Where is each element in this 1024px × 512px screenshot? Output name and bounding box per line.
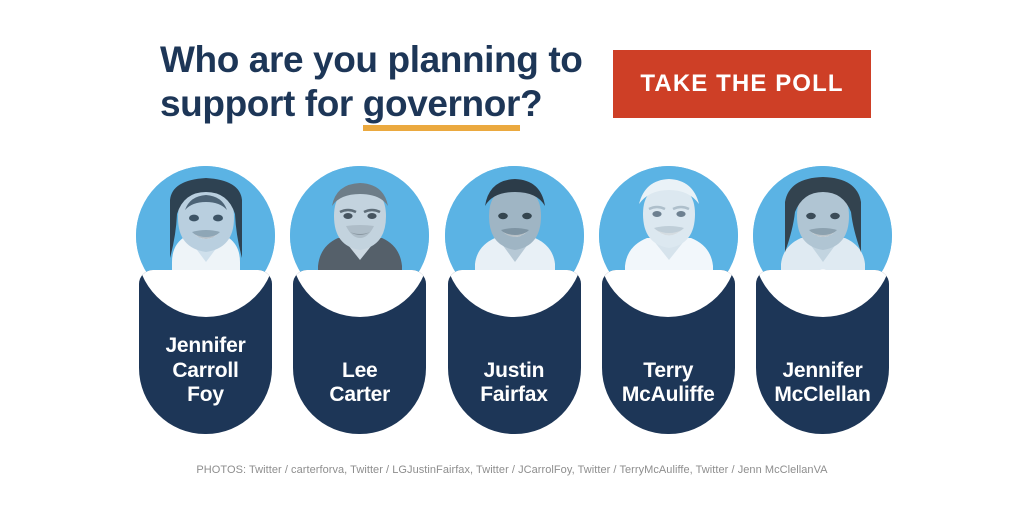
candidate-card-terry-mcauliffe[interactable]: Terry McAuliffe [599, 166, 738, 434]
headline-line-1: Who are you planning to [160, 38, 600, 82]
photo-credit: PHOTOS: Twitter / carterforva, Twitter /… [0, 464, 1024, 476]
headline-underlined-word: governor [363, 82, 520, 126]
headline-line-2: support for governor? [160, 82, 600, 126]
poll-graphic: Who are you planning to support for gove… [0, 0, 1024, 512]
take-the-poll-button[interactable]: TAKE THE POLL [613, 50, 871, 118]
candidate-card-lee-carter[interactable]: Lee Carter [290, 166, 429, 434]
candidate-name: Jennifer McClellan [756, 359, 889, 408]
candidate-name: Justin Fairfax [448, 359, 581, 408]
headline-line-2-suffix: ? [520, 83, 542, 124]
name-panel: Jennifer Carroll Foy [139, 270, 272, 434]
candidate-list: Jennifer Carroll Foy [136, 166, 892, 434]
headline-line-2-prefix: support for [160, 83, 363, 124]
candidate-name: Jennifer Carroll Foy [139, 334, 272, 408]
candidate-card-justin-fairfax[interactable]: Justin Fairfax [445, 166, 584, 434]
panel-notch [602, 270, 735, 317]
candidate-card-jennifer-mcclellan[interactable]: Jennifer McClellan [753, 166, 892, 434]
page-title: Who are you planning to support for gove… [160, 38, 600, 125]
panel-notch [139, 270, 272, 317]
panel-notch [448, 270, 581, 317]
name-panel: Jennifer McClellan [756, 270, 889, 434]
name-panel: Justin Fairfax [448, 270, 581, 434]
panel-notch [756, 270, 889, 317]
candidate-name: Terry McAuliffe [602, 359, 735, 408]
name-panel: Terry McAuliffe [602, 270, 735, 434]
gold-underline [363, 125, 520, 131]
name-panel: Lee Carter [293, 270, 426, 434]
candidate-name: Lee Carter [293, 359, 426, 408]
panel-notch [293, 270, 426, 317]
candidate-card-jennifer-carroll-foy[interactable]: Jennifer Carroll Foy [136, 166, 275, 434]
